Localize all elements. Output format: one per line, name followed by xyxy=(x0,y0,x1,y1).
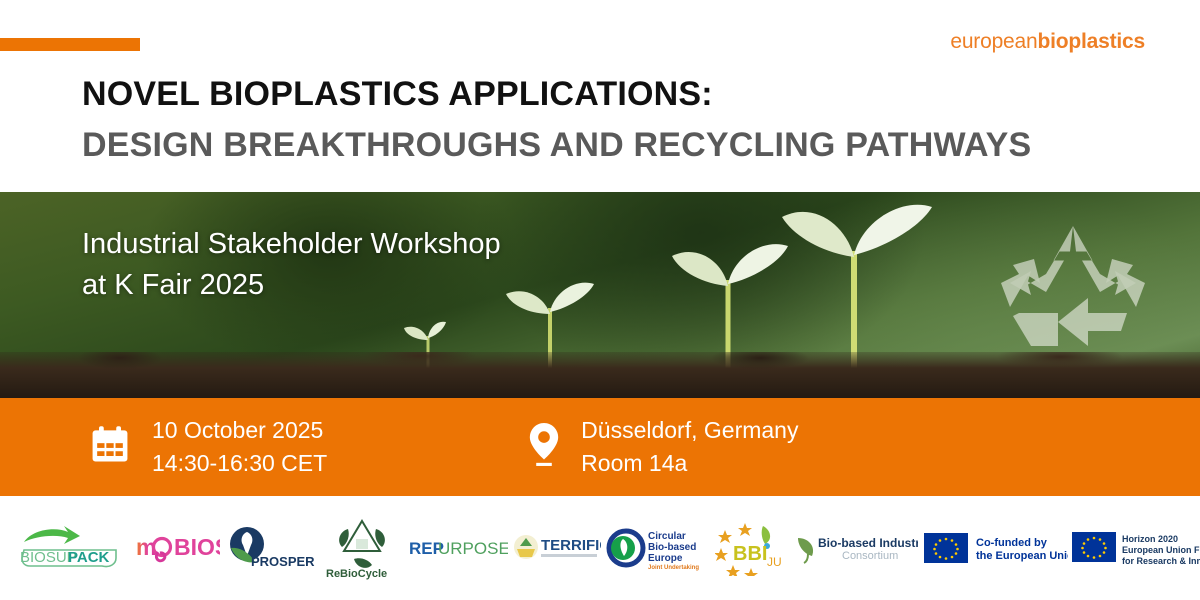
logo-mobios: m BIOS xyxy=(131,525,223,571)
event-date-line-2: 14:30-16:30 CET xyxy=(152,447,327,480)
map-pin-icon xyxy=(527,422,561,473)
logo-bio-based-industries-consortium: Bio-based Industries Consortium xyxy=(791,530,921,566)
logo-co-funded-eu: Co-funded by the European Union xyxy=(921,528,1071,568)
european-bioplastics-logo: europeanbioplastics xyxy=(950,30,1145,54)
logo-bbi-ju: BBI JU xyxy=(713,520,791,576)
logo-horizon-text-a: Horizon 2020 xyxy=(1122,534,1178,544)
logo-terrific-text: TERRIFIC xyxy=(541,537,601,554)
logo-rebiocycle: ReBioCycle xyxy=(319,515,405,581)
event-info-bar: 10 October 2025 14:30-16:30 CET Düsseldo… xyxy=(0,398,1200,496)
logo-rebiocycle-text: ReBioCycle xyxy=(326,568,387,580)
event-date-line-1: 10 October 2025 xyxy=(152,414,327,447)
partner-logo-strip: BIOSUP PACK m BIOS xyxy=(0,496,1200,600)
logo-cbe-text-b: Bio-based xyxy=(648,542,696,553)
seedling-4 xyxy=(770,193,950,368)
hero-line-1: Industrial Stakeholder Workshop xyxy=(82,224,501,265)
logo-cbe-text-d: Joint Undertaking xyxy=(648,565,699,571)
logo-cofunded-text-b: the European Union xyxy=(976,550,1068,562)
logo-prosper: PROSPER xyxy=(223,522,319,574)
title-line-1: NOVEL BIOPLASTICS APPLICATIONS: xyxy=(82,74,1031,114)
logo-mobios-text-b: BIOS xyxy=(174,534,220,560)
event-location-text: Düsseldorf, Germany Room 14a xyxy=(581,414,798,480)
logo-circular-bio-based-europe: Circular Bio-based Europe Joint Undertak… xyxy=(603,523,713,573)
brand-name-bold: bioplastics xyxy=(1038,30,1146,53)
event-location-block: Düsseldorf, Germany Room 14a xyxy=(527,414,798,480)
calendar-icon xyxy=(88,423,132,472)
logo-terrific: TERRIFIC xyxy=(511,530,603,566)
logo-bic-text-b: Consortium xyxy=(842,550,898,562)
event-location-line-2: Room 14a xyxy=(581,447,798,480)
event-date-text: 10 October 2025 14:30-16:30 CET xyxy=(152,414,327,480)
logo-prosper-text: PROSPER xyxy=(251,554,315,569)
logo-biosuppack: BIOSUP PACK xyxy=(6,520,131,576)
logo-horizon-2020: Horizon 2020 European Union Funding for … xyxy=(1071,527,1200,569)
logo-bic-text-a: Bio-based Industries xyxy=(818,536,918,550)
event-banner: europeanbioplastics NOVEL BIOPLASTICS AP… xyxy=(0,0,1200,600)
hero-text: Industrial Stakeholder Workshop at K Fai… xyxy=(82,224,501,306)
logo-horizon-text-c: for Research & Innovation xyxy=(1122,556,1200,566)
logo-cofunded-text-a: Co-funded by xyxy=(976,537,1048,549)
title-line-2: DESIGN BREAKTHROUGHS AND RECYCLING PATHW… xyxy=(82,125,1031,165)
logo-cbe-text-a: Circular xyxy=(648,531,686,542)
accent-bar xyxy=(0,38,140,51)
banner-header: europeanbioplastics NOVEL BIOPLASTICS AP… xyxy=(0,0,1200,192)
logo-repurpose-text-b: URPOSE xyxy=(438,539,508,558)
event-date-block: 10 October 2025 14:30-16:30 CET xyxy=(88,414,327,480)
logo-horizon-text-b: European Union Funding xyxy=(1122,545,1200,555)
hero-line-2: at K Fair 2025 xyxy=(82,265,501,306)
hero-image: Industrial Stakeholder Workshop at K Fai… xyxy=(0,192,1200,398)
logo-repurpose: REP URPOSE xyxy=(405,532,511,564)
event-location-line-1: Düsseldorf, Germany xyxy=(581,414,798,447)
logo-cbe-text-c: Europe xyxy=(648,553,683,564)
logo-bbi-text-b: JU xyxy=(767,555,782,569)
page-title: NOVEL BIOPLASTICS APPLICATIONS: DESIGN B… xyxy=(82,74,1031,165)
brand-name-light: european xyxy=(950,30,1037,53)
logo-bbi-text-a: BBI xyxy=(733,543,767,565)
recycle-icon xyxy=(998,214,1148,369)
logo-biosuppack-text-b: PACK xyxy=(68,549,110,566)
